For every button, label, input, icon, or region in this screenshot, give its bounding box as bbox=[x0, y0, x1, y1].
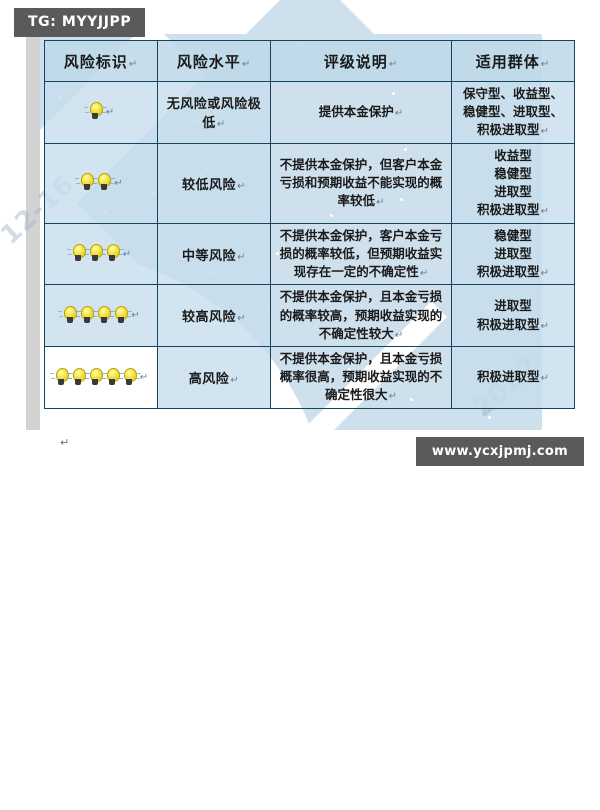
rating-description-cell: 不提供本金保护，客户本金亏损的概率较低，但预期收益实现存在一定的不确定性↵ bbox=[271, 223, 452, 285]
table-row: ↵高风险↵不提供本金保护，且本金亏损概率很高，预期收益实现的不确定性很大↵积极进… bbox=[45, 347, 575, 409]
paragraph-mark: ↵ bbox=[541, 373, 549, 384]
risk-level-cell: 较高风险↵ bbox=[158, 285, 271, 347]
column-header-label: 风险标识 bbox=[64, 53, 128, 71]
risk-rating-table-wrapper: 风险标识↵风险水平↵评级说明↵适用群体↵↵无风险或风险极低↵提供本金保护↵保守型… bbox=[44, 40, 540, 409]
lightbulb-icon bbox=[105, 367, 120, 389]
applicable-group-line: 积极进取型↵ bbox=[456, 201, 570, 220]
risk-level-cell: 中等风险↵ bbox=[158, 223, 271, 285]
risk-level-label: 较低风险 bbox=[182, 178, 236, 193]
paragraph-mark: ↵ bbox=[140, 372, 148, 383]
rating-description-cell: 提供本金保护↵ bbox=[271, 82, 452, 144]
table-row: ↵较高风险↵不提供本金保护，且本金亏损的概率较高，预期收益实现的不确定性较大↵进… bbox=[45, 285, 575, 347]
lightbulb-icon bbox=[105, 243, 120, 265]
paragraph-mark: ↵ bbox=[237, 252, 246, 263]
lightbulb-rating: ↵ bbox=[49, 241, 153, 267]
lightbulb-icon bbox=[71, 367, 86, 389]
site-watermark-badge: www.ycxjpmj.com bbox=[416, 437, 584, 466]
column-header-label: 风险水平 bbox=[177, 53, 241, 71]
applicable-groups-cell: 进取型积极进取型↵ bbox=[452, 285, 575, 347]
applicable-group-line: 进取型 bbox=[456, 245, 570, 263]
snow-dot bbox=[208, 418, 211, 421]
paragraph-mark: ↵ bbox=[237, 313, 246, 324]
lightbulb-icon bbox=[79, 172, 94, 194]
risk-level-cell: 高风险↵ bbox=[158, 347, 271, 409]
paragraph-mark: ↵ bbox=[541, 268, 549, 279]
paragraph-mark: ↵ bbox=[376, 197, 384, 208]
rating-description-text: 提供本金保护 bbox=[319, 104, 394, 119]
rating-description-text: 不提供本金保护，且本金亏损的概率较高，预期收益实现的不确定性较大 bbox=[280, 289, 443, 340]
document-page: 12-16 2022 风险标识↵风险水平↵评级说明↵适用群体↵↵无风险或风险极低… bbox=[0, 0, 600, 480]
lightbulb-rating: ↵ bbox=[49, 365, 153, 391]
snow-dot bbox=[114, 412, 117, 415]
applicable-group-line: 稳健型 bbox=[456, 165, 570, 183]
paragraph-mark: ↵ bbox=[389, 59, 398, 70]
applicable-group-line: 进取型 bbox=[456, 297, 570, 315]
applicable-groups-cell: 保守型、收益型、稳健型、进取型、积极进取型↵ bbox=[452, 82, 575, 144]
paragraph-mark: ↵ bbox=[541, 59, 550, 70]
applicable-groups-cell: 收益型稳健型进取型积极进取型↵ bbox=[452, 143, 575, 223]
lightbulb-rating: ↵ bbox=[49, 170, 153, 196]
rating-description-text: 不提供本金保护，但客户本金亏损和预期收益不能实现的概率较低 bbox=[280, 157, 443, 208]
table-row: ↵较低风险↵不提供本金保护，但客户本金亏损和预期收益不能实现的概率较低↵收益型稳… bbox=[45, 143, 575, 223]
risk-level-label: 较高风险 bbox=[182, 310, 236, 325]
lightbulb-icon bbox=[88, 367, 103, 389]
paragraph-mark: ↵ bbox=[395, 330, 403, 341]
paragraph-mark: ↵ bbox=[230, 375, 239, 386]
lightbulb-icon bbox=[122, 367, 137, 389]
lightbulb-icon bbox=[71, 243, 86, 265]
paragraph-mark: ↵ bbox=[541, 206, 549, 217]
risk-level-cell: 较低风险↵ bbox=[158, 143, 271, 223]
applicable-groups-cell: 稳健型进取型积极进取型↵ bbox=[452, 223, 575, 285]
page-margin-strip bbox=[26, 34, 40, 430]
rating-description-text: 不提供本金保护，且本金亏损概率很高，预期收益实现的不确定性很大 bbox=[280, 351, 443, 402]
paragraph-mark: ↵ bbox=[123, 249, 131, 260]
table-row: ↵中等风险↵不提供本金保护，客户本金亏损的概率较低，但预期收益实现存在一定的不确… bbox=[45, 223, 575, 285]
risk-level-label: 无风险或风险极低 bbox=[167, 97, 262, 131]
applicable-group-line: 稳健型 bbox=[456, 227, 570, 245]
rating-description-cell: 不提供本金保护，但客户本金亏损和预期收益不能实现的概率较低↵ bbox=[271, 143, 452, 223]
lightbulb-icon bbox=[88, 101, 103, 123]
applicable-group-line: 保守型、收益型、 bbox=[456, 85, 570, 103]
paragraph-mark: ↵ bbox=[129, 59, 138, 70]
risk-identifier-cell: ↵ bbox=[45, 82, 158, 144]
column-header-label: 适用群体 bbox=[476, 53, 540, 71]
risk-rating-table: 风险标识↵风险水平↵评级说明↵适用群体↵↵无风险或风险极低↵提供本金保护↵保守型… bbox=[44, 40, 575, 409]
lightbulb-icon bbox=[96, 305, 111, 327]
paragraph-mark: ↵ bbox=[131, 310, 139, 321]
applicable-group-line: 收益型 bbox=[456, 147, 570, 165]
risk-identifier-cell: ↵ bbox=[45, 285, 158, 347]
risk-identifier-cell: ↵ bbox=[45, 347, 158, 409]
snow-dot bbox=[488, 416, 491, 419]
lightbulb-icon bbox=[96, 172, 111, 194]
table-header-row: 风险标识↵风险水平↵评级说明↵适用群体↵ bbox=[45, 41, 575, 82]
lightbulb-icon bbox=[54, 367, 69, 389]
risk-level-label: 中等风险 bbox=[182, 249, 236, 264]
applicable-group-line: 积极进取型↵ bbox=[456, 316, 570, 335]
applicable-group-line: 积极进取型↵ bbox=[456, 121, 570, 140]
rating-description-cell: 不提供本金保护，且本金亏损的概率较高，预期收益实现的不确定性较大↵ bbox=[271, 285, 452, 347]
lightbulb-icon bbox=[79, 305, 94, 327]
risk-identifier-cell: ↵ bbox=[45, 143, 158, 223]
rating-description-cell: 不提供本金保护，且本金亏损概率很高，预期收益实现的不确定性很大↵ bbox=[271, 347, 452, 409]
lightbulb-rating: ↵ bbox=[49, 99, 153, 125]
risk-identifier-cell: ↵ bbox=[45, 223, 158, 285]
column-header-risk-identifier: 风险标识↵ bbox=[45, 41, 158, 82]
applicable-group-line: 积极进取型↵ bbox=[456, 263, 570, 282]
column-header-risk-level: 风险水平↵ bbox=[158, 41, 271, 82]
paragraph-mark: ↵ bbox=[541, 321, 549, 332]
paragraph-mark: ↵ bbox=[395, 108, 403, 119]
paragraph-mark: ↵ bbox=[106, 107, 114, 118]
applicable-group-line: 稳健型、进取型、 bbox=[456, 103, 570, 121]
lightbulb-rating: ↵ bbox=[49, 303, 153, 329]
paragraph-mark: ↵ bbox=[217, 119, 226, 130]
paragraph-mark: ↵ bbox=[237, 181, 246, 192]
paragraph-mark: ↵ bbox=[541, 126, 549, 137]
applicable-group-line: 进取型 bbox=[456, 183, 570, 201]
risk-level-label: 高风险 bbox=[189, 372, 230, 387]
column-header-applicable-groups: 适用群体↵ bbox=[452, 41, 575, 82]
column-header-rating-description: 评级说明↵ bbox=[271, 41, 452, 82]
paragraph-mark: ↵ bbox=[114, 178, 122, 189]
table-row: ↵无风险或风险极低↵提供本金保护↵保守型、收益型、稳健型、进取型、积极进取型↵ bbox=[45, 82, 575, 144]
trailing-paragraph-mark: ↵ bbox=[60, 436, 69, 449]
paragraph-mark: ↵ bbox=[420, 268, 428, 279]
lightbulb-icon bbox=[62, 305, 77, 327]
applicable-groups-cell: 积极进取型↵ bbox=[452, 347, 575, 409]
lightbulb-icon bbox=[88, 243, 103, 265]
applicable-group-line: 积极进取型↵ bbox=[456, 368, 570, 387]
paragraph-mark: ↵ bbox=[242, 59, 251, 70]
snow-dot bbox=[340, 414, 343, 417]
rating-description-text: 不提供本金保护，客户本金亏损的概率较低，但预期收益实现存在一定的不确定性 bbox=[280, 228, 443, 279]
paragraph-mark: ↵ bbox=[389, 391, 397, 402]
tg-watermark-badge: TG: MYYJJPP bbox=[14, 8, 145, 37]
lightbulb-icon bbox=[113, 305, 128, 327]
risk-level-cell: 无风险或风险极低↵ bbox=[158, 82, 271, 144]
column-header-label: 评级说明 bbox=[324, 53, 388, 71]
